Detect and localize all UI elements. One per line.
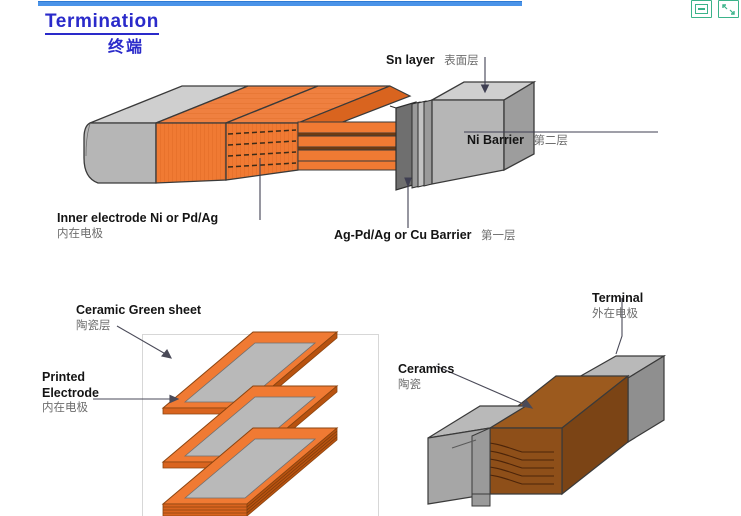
- fullscreen-icon[interactable]: [718, 0, 739, 18]
- label-terminal-cn: 外在电极: [592, 307, 643, 321]
- divider-left: [142, 334, 143, 516]
- label-ceramics-en: Ceramics: [398, 362, 454, 378]
- green-sheet-stack-diagram: [145, 322, 360, 516]
- label-ag-barrier: Ag-Pd/Ag or Cu Barrier 第一层: [334, 226, 515, 244]
- label-ag-barrier-cn: 第一层: [481, 230, 516, 242]
- page-title-chinese: 终端: [108, 33, 144, 57]
- label-inner-electrode-en: Inner electrode Ni or Pd/Ag: [57, 211, 218, 227]
- finished-chip-diagram: [450, 330, 675, 516]
- label-terminal-en: Terminal: [592, 291, 643, 307]
- label-ni-barrier-cn: 第二层: [533, 135, 568, 147]
- slide-canvas: Termination 终端: [0, 0, 741, 516]
- top-accent-rule: [38, 1, 522, 6]
- label-printed-electrode-en-line2: Electrode: [42, 386, 99, 402]
- label-printed-electrode-cn: 内在电极: [42, 401, 99, 415]
- label-sn-layer-cn: 表面层: [444, 55, 479, 67]
- label-printed-electrode-en-line1: Printed: [42, 370, 99, 386]
- label-ceramic-green-sheet-cn: 陶瓷层: [76, 319, 201, 333]
- label-sn-layer-en: Sn layer: [386, 53, 435, 67]
- divider-right: [378, 334, 379, 516]
- label-ni-barrier: Ni Barrier 第二层: [467, 131, 568, 149]
- page-title: Termination: [45, 12, 159, 35]
- slideshow-icon[interactable]: [691, 0, 712, 18]
- label-ceramics-cn: 陶瓷: [398, 378, 454, 392]
- label-ag-barrier-en: Ag-Pd/Ag or Cu Barrier: [334, 228, 472, 242]
- label-ni-barrier-en: Ni Barrier: [467, 133, 524, 147]
- label-ceramic-green-sheet-en: Ceramic Green sheet: [76, 303, 201, 319]
- label-inner-electrode: Inner electrode Ni or Pd/Ag 内在电极: [57, 211, 218, 241]
- label-terminal: Terminal 外在电极: [592, 291, 643, 321]
- label-inner-electrode-cn: 内在电极: [57, 227, 218, 241]
- label-printed-electrode: Printed Electrode 内在电极: [42, 370, 99, 416]
- viewer-toolbar: [691, 0, 739, 18]
- label-ceramics: Ceramics 陶瓷: [398, 362, 454, 392]
- label-sn-layer: Sn layer 表面层: [386, 51, 479, 69]
- label-ceramic-green-sheet: Ceramic Green sheet 陶瓷层: [76, 303, 201, 333]
